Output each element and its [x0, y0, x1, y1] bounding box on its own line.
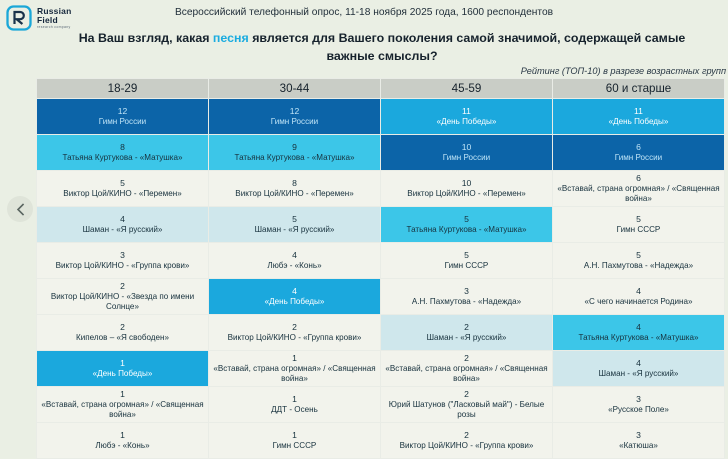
cell-value: 8 — [40, 142, 205, 153]
table-row: 1«День Победы»1«Вставай, страна огромная… — [37, 351, 725, 387]
table-cell: 3«Русское Поле» — [553, 387, 725, 423]
cell-value: 5 — [556, 214, 721, 225]
cell-value: 4 — [556, 322, 721, 333]
cell-song-title: Гимн России — [212, 117, 377, 127]
cell-song-title: «День Победы» — [40, 369, 205, 379]
column-header-30-44: 30-44 — [209, 79, 381, 99]
table-cell: 2Виктор Цой/КИНО - «Группа крови» — [381, 423, 553, 459]
cell-song-title: Виктор Цой/КИНО - «Группа крови» — [212, 333, 377, 343]
table-cell: 4Шаман - «Я русский» — [553, 351, 725, 387]
cell-value: 5 — [212, 214, 377, 225]
cell-song-title: Юрий Шатунов ("Ласковый май") - Белые ро… — [384, 400, 549, 420]
table-cell: 4«День Победы» — [209, 279, 381, 315]
table-row: 5Виктор Цой/КИНО - «Перемен»8Виктор Цой/… — [37, 171, 725, 207]
table-cell: 1ДДТ - Осень — [209, 387, 381, 423]
cell-value: 5 — [40, 178, 205, 189]
cell-song-title: «День Победы» — [384, 117, 549, 127]
question-part-1: На Ваш взгляд, какая — [79, 31, 213, 45]
cell-song-title: «День Победы» — [556, 117, 721, 127]
cell-song-title: Виктор Цой/КИНО - «Перемен» — [40, 189, 205, 199]
cell-value: 2 — [384, 353, 549, 364]
cell-song-title: Виктор Цой/КИНО - «Группа крови» — [384, 441, 549, 451]
cell-value: 12 — [40, 106, 205, 117]
cell-value: 3 — [384, 286, 549, 297]
cell-value: 2 — [212, 322, 377, 333]
table-row: 8Татьяна Куртукова - «Матушка»9Татьяна К… — [37, 135, 725, 171]
cell-song-title: Шаман - «Я русский» — [40, 225, 205, 235]
cell-value: 1 — [40, 389, 205, 400]
cell-value: 10 — [384, 142, 549, 153]
cell-value: 4 — [556, 358, 721, 369]
table-cell: 1«Вставай, страна огромная» / «Священная… — [209, 351, 381, 387]
cell-song-title: «Вставай, страна огромная» / «Священная … — [384, 364, 549, 384]
table-cell: 1Гимн СССР — [209, 423, 381, 459]
table-cell: 3А.Н. Пахмутова - «Надежда» — [381, 279, 553, 315]
cell-song-title: Татьяна Куртукова - «Матушка» — [40, 153, 205, 163]
brand-tagline: research company — [37, 26, 71, 29]
cell-value: 2 — [384, 322, 549, 333]
table-row: 2Виктор Цой/КИНО - «Звезда по имени Солн… — [37, 279, 725, 315]
cell-song-title: Гимн СССР — [384, 261, 549, 271]
prev-slide-button[interactable] — [7, 196, 33, 222]
table-cell: 12Гимн России — [209, 99, 381, 135]
cell-value: 2 — [40, 281, 205, 292]
cell-value: 6 — [556, 173, 721, 184]
cell-song-title: «Вставай, страна огромная» / «Священная … — [40, 400, 205, 420]
cell-value: 1 — [212, 394, 377, 405]
table-cell: 5А.Н. Пахмутова - «Надежда» — [553, 243, 725, 279]
column-header-60-plus: 60 и старше — [553, 79, 725, 99]
chevron-left-icon — [15, 203, 26, 216]
table-cell: 2Юрий Шатунов ("Ласковый май") - Белые р… — [381, 387, 553, 423]
cell-song-title: Татьяна Куртукова - «Матушка» — [384, 225, 549, 235]
cell-song-title: Любэ - «Конь» — [212, 261, 377, 271]
cell-value: 4 — [212, 250, 377, 261]
cell-song-title: Шаман - «Я русский» — [384, 333, 549, 343]
cell-song-title: Любэ - «Конь» — [40, 441, 205, 451]
table-cell: 12Гимн России — [37, 99, 209, 135]
table-row: 4Шаман - «Я русский»5Шаман - «Я русский»… — [37, 207, 725, 243]
page-title: На Ваш взгляд, какая песня является для … — [60, 30, 704, 65]
table-cell: 2Кипелов – «Я свободен» — [37, 315, 209, 351]
cell-song-title: Гимн России — [40, 117, 205, 127]
table-header-row: 18-29 30-44 45-59 60 и старше — [37, 79, 725, 99]
cell-value: 3 — [40, 250, 205, 261]
cell-song-title: А.Н. Пахмутова - «Надежда» — [556, 261, 721, 271]
cell-value: 5 — [556, 250, 721, 261]
slide-root: Russian Field research company Всероссий… — [0, 0, 728, 432]
cell-song-title: Виктор Цой/КИНО - «Перемен» — [384, 189, 549, 199]
cell-value: 9 — [212, 142, 377, 153]
cell-song-title: «Вставай, страна огромная» / «Священная … — [212, 364, 377, 384]
table-cell: 5Гимн СССР — [553, 207, 725, 243]
table-cell: 8Виктор Цой/КИНО - «Перемен» — [209, 171, 381, 207]
table-cell: 1Любэ - «Конь» — [37, 423, 209, 459]
table-cell: 1«Вставай, страна огромная» / «Священная… — [37, 387, 209, 423]
cell-song-title: Гимн России — [384, 153, 549, 163]
table-cell: 5Шаман - «Я русский» — [209, 207, 381, 243]
cell-song-title: Гимн СССР — [212, 441, 377, 451]
question-part-2: является для Вашего поколения самой знач… — [249, 31, 686, 63]
table-cell: 9Татьяна Куртукова - «Матушка» — [209, 135, 381, 171]
table-row: 2Кипелов – «Я свободен»2Виктор Цой/КИНО … — [37, 315, 725, 351]
cell-song-title: Виктор Цой/КИНО - «Группа крови» — [40, 261, 205, 271]
cell-value: 12 — [212, 106, 377, 117]
table-row: 1Любэ - «Конь»1Гимн СССР2Виктор Цой/КИНО… — [37, 423, 725, 459]
table-cell: 8Татьяна Куртукова - «Матушка» — [37, 135, 209, 171]
table-cell: 4«С чего начинается Родина» — [553, 279, 725, 315]
cell-song-title: «Катюша» — [556, 441, 721, 451]
table-cell: 5Гимн СССР — [381, 243, 553, 279]
cell-song-title: Шаман - «Я русский» — [556, 369, 721, 379]
table-cell: 2Шаман - «Я русский» — [381, 315, 553, 351]
table-cell: 2Виктор Цой/КИНО - «Звезда по имени Солн… — [37, 279, 209, 315]
column-header-45-59: 45-59 — [381, 79, 553, 99]
cell-value: 10 — [384, 178, 549, 189]
cell-song-title: Кипелов – «Я свободен» — [40, 333, 205, 343]
cell-song-title: «Вставай, страна огромная» / «Священная … — [556, 184, 721, 204]
table-cell: 1«День Победы» — [37, 351, 209, 387]
cell-value: 4 — [212, 286, 377, 297]
cell-song-title: ДДТ - Осень — [212, 405, 377, 415]
table-cell: 5Виктор Цой/КИНО - «Перемен» — [37, 171, 209, 207]
table-cell: 11«День Победы» — [381, 99, 553, 135]
table-row: 12Гимн России12Гимн России11«День Победы… — [37, 99, 725, 135]
table-row: 3Виктор Цой/КИНО - «Группа крови»4Любэ -… — [37, 243, 725, 279]
cell-value: 3 — [556, 394, 721, 405]
cell-value: 1 — [212, 353, 377, 364]
cell-song-title: «Русское Поле» — [556, 405, 721, 415]
column-header-18-29: 18-29 — [37, 79, 209, 99]
ranking-table-body: 12Гимн России12Гимн России11«День Победы… — [37, 99, 725, 459]
cell-value: 8 — [212, 178, 377, 189]
rating-note: Рейтинг (ТОП-10) в разрезе возрастных гр… — [521, 66, 726, 76]
table-cell: 2«Вставай, страна огромная» / «Священная… — [381, 351, 553, 387]
cell-value: 11 — [384, 106, 549, 117]
cell-song-title: Татьяна Куртукова - «Матушка» — [212, 153, 377, 163]
survey-subtitle: Всероссийский телефонный опрос, 11-18 но… — [0, 7, 728, 18]
cell-song-title: Виктор Цой/КИНО - «Перемен» — [212, 189, 377, 199]
question-keyword: песня — [213, 31, 249, 45]
cell-value: 2 — [40, 322, 205, 333]
cell-song-title: Гимн СССР — [556, 225, 721, 235]
cell-song-title: А.Н. Пахмутова - «Надежда» — [384, 297, 549, 307]
table-cell: 4Шаман - «Я русский» — [37, 207, 209, 243]
table-cell: 3Виктор Цой/КИНО - «Группа крови» — [37, 243, 209, 279]
cell-value: 5 — [384, 214, 549, 225]
table-cell: 4Татьяна Куртукова - «Матушка» — [553, 315, 725, 351]
ranking-table-wrapper: 18-29 30-44 45-59 60 и старше 12Гимн Рос… — [36, 78, 724, 459]
cell-value: 4 — [556, 286, 721, 297]
cell-value: 4 — [40, 214, 205, 225]
cell-song-title: Виктор Цой/КИНО - «Звезда по имени Солнц… — [40, 292, 205, 312]
cell-value: 2 — [384, 389, 549, 400]
ranking-table: 18-29 30-44 45-59 60 и старше 12Гимн Рос… — [36, 78, 725, 459]
table-cell: 6«Вставай, страна огромная» / «Священная… — [553, 171, 725, 207]
cell-song-title: Татьяна Куртукова - «Матушка» — [556, 333, 721, 343]
cell-song-title: «День Победы» — [212, 297, 377, 307]
cell-song-title: Гимн России — [556, 153, 721, 163]
table-cell: 6Гимн России — [553, 135, 725, 171]
cell-song-title: Шаман - «Я русский» — [212, 225, 377, 235]
table-cell: 2Виктор Цой/КИНО - «Группа крови» — [209, 315, 381, 351]
cell-song-title: «С чего начинается Родина» — [556, 297, 721, 307]
table-cell: 5Татьяна Куртукова - «Матушка» — [381, 207, 553, 243]
cell-value: 1 — [40, 358, 205, 369]
table-row: 1«Вставай, страна огромная» / «Священная… — [37, 387, 725, 423]
table-cell: 10Виктор Цой/КИНО - «Перемен» — [381, 171, 553, 207]
table-cell: 10Гимн России — [381, 135, 553, 171]
cell-value: 11 — [556, 106, 721, 117]
table-cell: 11«День Победы» — [553, 99, 725, 135]
table-cell: 4Любэ - «Конь» — [209, 243, 381, 279]
table-cell: 3«Катюша» — [553, 423, 725, 459]
cell-value: 5 — [384, 250, 549, 261]
cell-value: 6 — [556, 142, 721, 153]
